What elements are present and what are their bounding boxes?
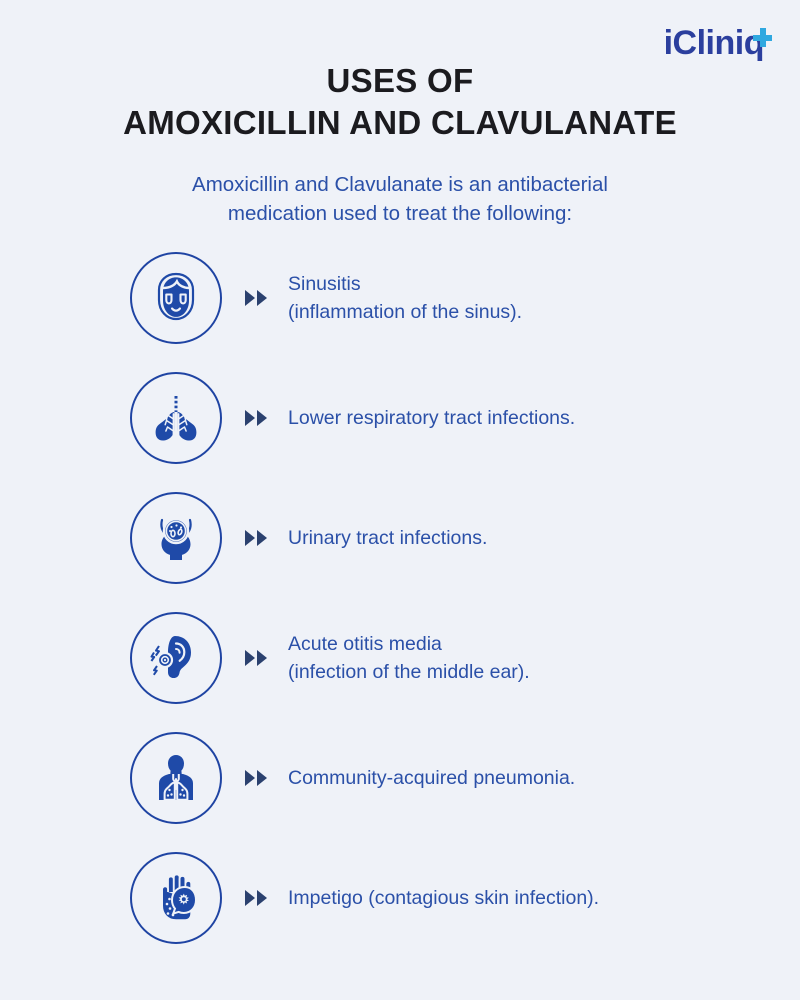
double-chevron-icon [240, 769, 274, 787]
double-chevron-icon [240, 889, 274, 907]
subtitle-line-1: Amoxicillin and Clavulanate is an antiba… [100, 170, 700, 199]
lungs-icon [130, 372, 222, 464]
list-item-line-1: Impetigo (contagious skin infection). [288, 887, 599, 909]
title-line-1: USES OF [0, 60, 800, 102]
hand-rash-germ-icon [130, 852, 222, 944]
uses-list: Sinusitis (inflammation of the sinus). [0, 238, 800, 958]
list-item-line-1: Acute otitis media [288, 633, 442, 655]
list-item-line-2: (infection of the middle ear). [288, 658, 530, 686]
double-chevron-icon [240, 409, 274, 427]
list-item-text: Sinusitis (inflammation of the sinus). [288, 270, 522, 326]
list-item: Urinary tract infections. [0, 478, 800, 598]
list-item-line-2: (inflammation of the sinus). [288, 298, 522, 326]
list-item: Lower respiratory tract infections. [0, 358, 800, 478]
iclinic-logo: iCliniq [664, 26, 772, 60]
title-line-2: AMOXICILLIN AND CLAVULANATE [0, 102, 800, 144]
list-item-text: Community-acquired pneumonia. [288, 764, 575, 792]
list-item-line-1: Urinary tract infections. [288, 527, 487, 549]
list-item: Sinusitis (inflammation of the sinus). [0, 238, 800, 358]
double-chevron-icon [240, 649, 274, 667]
torso-lungs-icon [130, 732, 222, 824]
list-item: Community-acquired pneumonia. [0, 718, 800, 838]
list-item-text: Urinary tract infections. [288, 524, 487, 552]
list-item-line-1: Community-acquired pneumonia. [288, 767, 575, 789]
logo-text: iCliniq [664, 26, 764, 60]
ear-pain-icon [130, 612, 222, 704]
list-item-text: Acute otitis media (infection of the mid… [288, 630, 530, 686]
sinus-face-icon [130, 252, 222, 344]
list-item: Impetigo (contagious skin infection). [0, 838, 800, 958]
list-item-line-1: Lower respiratory tract infections. [288, 407, 575, 429]
double-chevron-icon [240, 529, 274, 547]
bladder-bacteria-icon [130, 492, 222, 584]
list-item-text: Impetigo (contagious skin infection). [288, 884, 599, 912]
subtitle: Amoxicillin and Clavulanate is an antiba… [100, 170, 700, 228]
page-title: USES OF AMOXICILLIN AND CLAVULANATE [0, 60, 800, 144]
list-item-text: Lower respiratory tract infections. [288, 404, 575, 432]
list-item-line-1: Sinusitis [288, 273, 361, 295]
double-chevron-icon [240, 289, 274, 307]
plus-icon [753, 28, 772, 47]
subtitle-line-2: medication used to treat the following: [100, 199, 700, 228]
list-item: Acute otitis media (infection of the mid… [0, 598, 800, 718]
